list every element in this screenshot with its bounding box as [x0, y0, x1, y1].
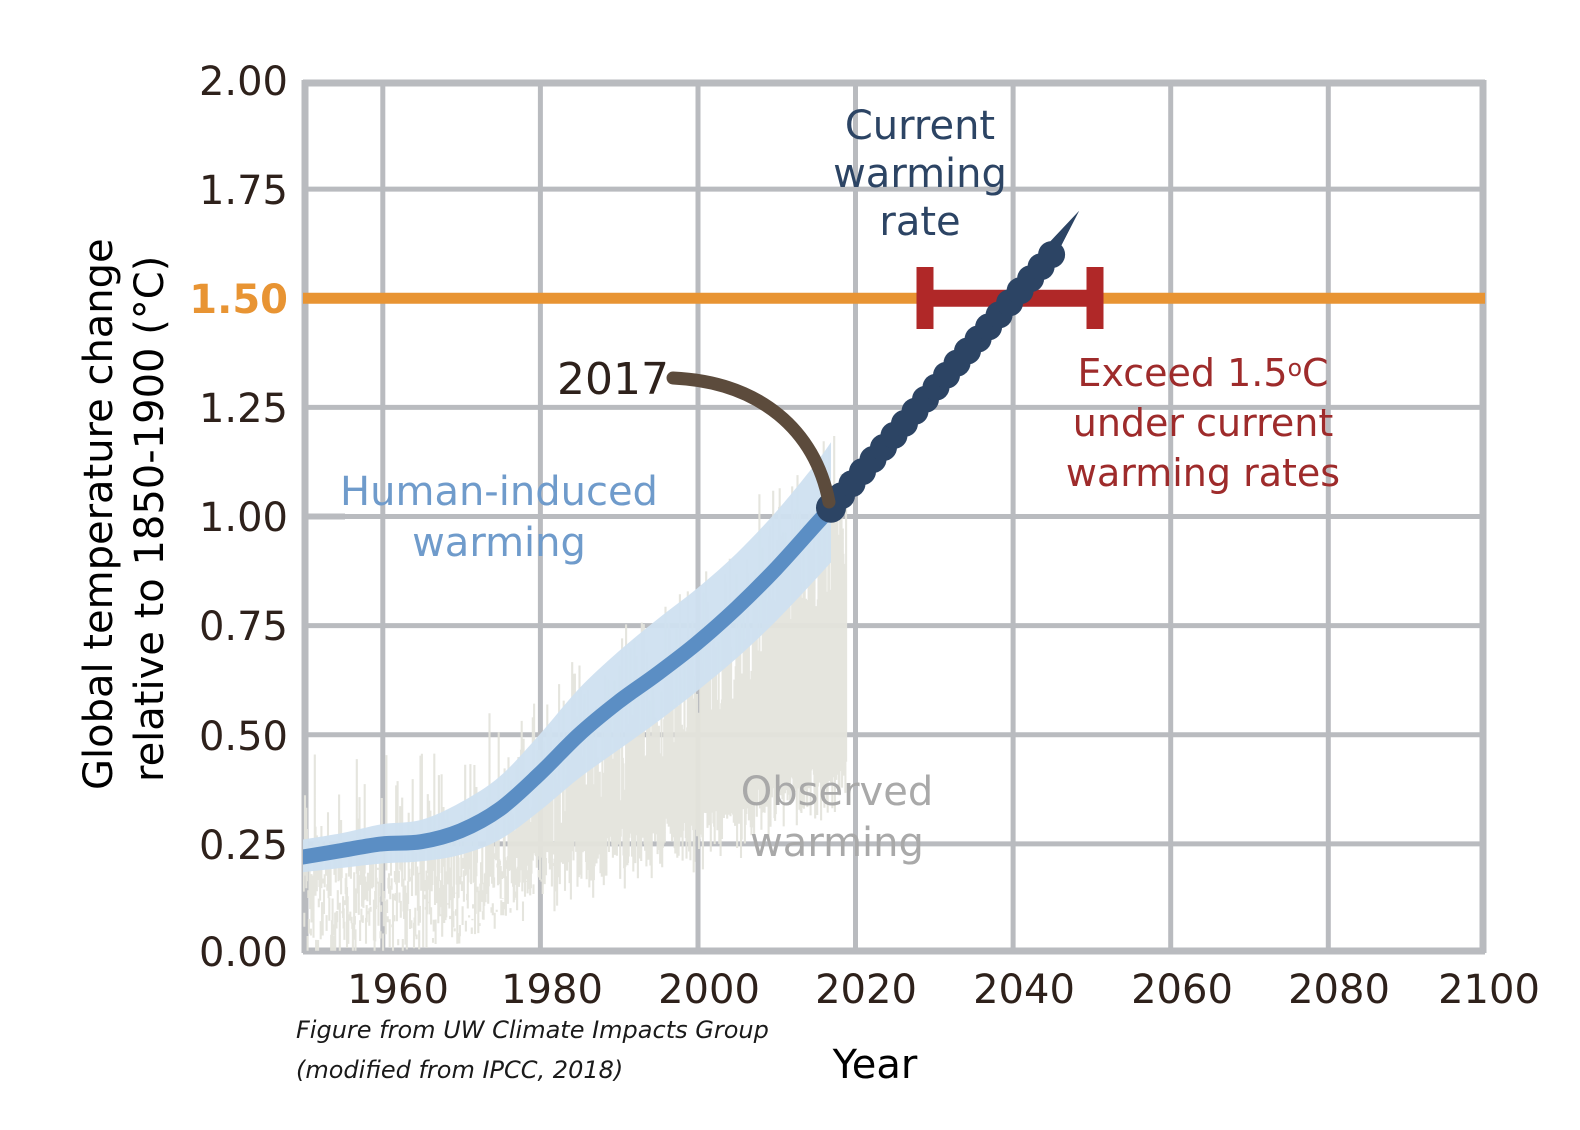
observed-line1: Observed — [741, 769, 933, 815]
y-tick-label-0-75: 0.75 — [199, 604, 288, 650]
y-axis-title-line1: Global temperature change — [76, 238, 122, 790]
exceed-line3: warming rates — [1066, 451, 1340, 495]
y-tick-label-1-00: 1.00 — [199, 495, 288, 541]
climate-warming-chart: 2.00 1.75 1.50 1.25 1.00 0.75 0.50 0.25 … — [0, 0, 1580, 1130]
y-tick-label-1-75: 1.75 — [199, 168, 288, 214]
figure-credit: Figure from UW Climate Impacts Group (mo… — [296, 1016, 769, 1084]
human-induced-line2: warming — [412, 520, 586, 566]
y-tick-labels: 2.00 1.75 1.50 1.25 1.00 0.75 0.50 0.25 … — [189, 59, 288, 976]
annotation-exceed-1p5c: Exceed 1.5oC under current warming rates — [1066, 351, 1340, 495]
y-tick-label-0-25: 0.25 — [199, 823, 288, 869]
x-axis-title: Year — [832, 1042, 918, 1088]
y-tick-label-0-50: 0.50 — [199, 714, 288, 760]
y-tick-label-0-00: 0.00 — [199, 930, 288, 976]
y-axis-title: Global temperature change relative to 18… — [76, 238, 173, 790]
current-rate-line2: warming — [833, 151, 1007, 197]
human-induced-line1: Human-induced — [340, 469, 658, 515]
current-rate-line1: Current — [845, 103, 995, 149]
x-tick-label-2040: 2040 — [973, 967, 1075, 1013]
credit-line2: (modified from IPCC, 2018) — [296, 1056, 623, 1084]
chart-canvas: 2.00 1.75 1.50 1.25 1.00 0.75 0.50 0.25 … — [0, 0, 1580, 1130]
x-tick-labels: 1960 1980 2000 2020 2040 2060 2080 2100 — [347, 967, 1540, 1013]
observed-line2: warming — [750, 820, 924, 866]
x-tick-label-2080: 2080 — [1288, 967, 1390, 1013]
annotation-year-2017: 2017 — [557, 354, 669, 405]
y-axis-title-line2: relative to 1850-1900 (°C) — [127, 256, 173, 782]
x-tick-label-2100: 2100 — [1438, 967, 1540, 1013]
exceed-line1-text: Exceed 1.5 — [1077, 351, 1287, 395]
y-tick-label-1-25: 1.25 — [199, 386, 288, 432]
x-tick-label-2020: 2020 — [815, 967, 917, 1013]
x-tick-label-2060: 2060 — [1131, 967, 1233, 1013]
credit-line1: Figure from UW Climate Impacts Group — [296, 1016, 769, 1044]
exceed-line2: under current — [1073, 401, 1333, 445]
y-tick-label-1-50: 1.50 — [189, 277, 288, 323]
x-tick-label-2000: 2000 — [658, 967, 760, 1013]
current-rate-line3: rate — [879, 199, 960, 245]
x-tick-label-1980: 1980 — [501, 967, 603, 1013]
x-tick-label-1960: 1960 — [347, 967, 449, 1013]
y-tick-label-2-00: 2.00 — [199, 59, 288, 105]
